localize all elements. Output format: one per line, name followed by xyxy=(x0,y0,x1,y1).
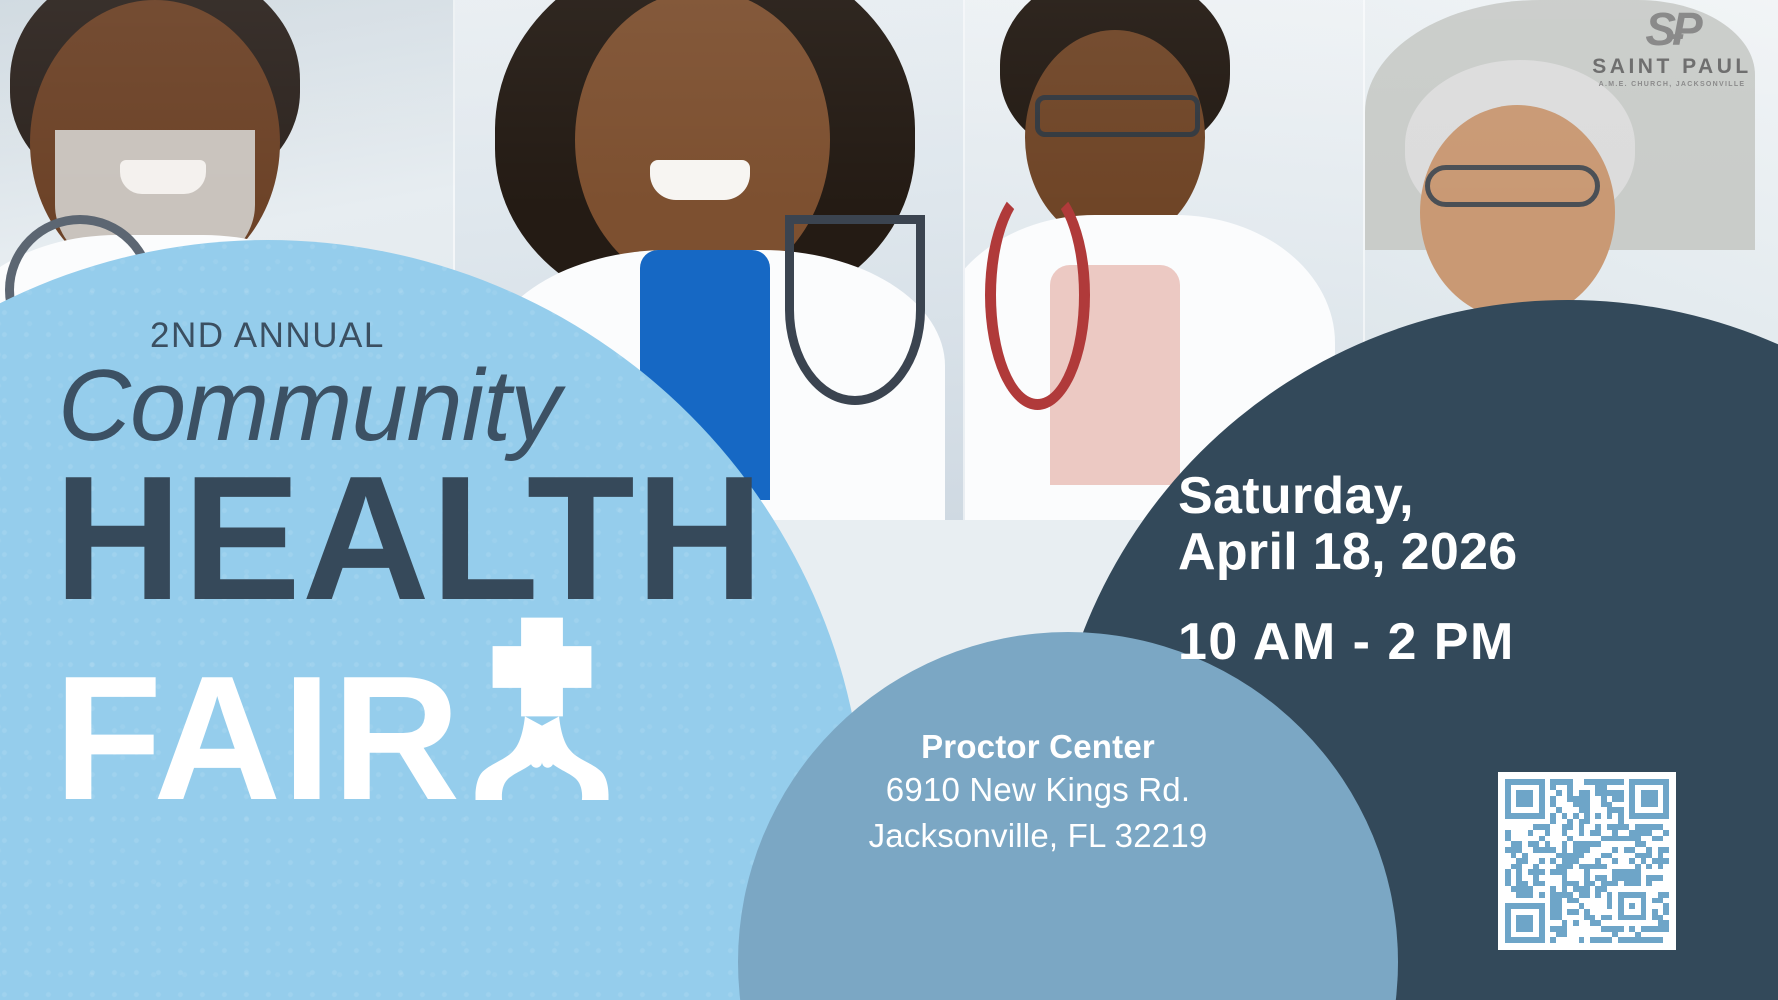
venue-address-line-2: Jacksonville, FL 32219 xyxy=(838,813,1238,859)
kicker-text: 2ND ANNUAL xyxy=(150,318,878,353)
venue-block: Proctor Center 6910 New Kings Rd. Jackso… xyxy=(838,726,1238,858)
logo-name: SAINT PAUL xyxy=(1588,54,1756,79)
photo-shape-smile xyxy=(120,160,206,194)
photo-shape-eyeglasses xyxy=(1035,95,1200,137)
photo-shape-smile xyxy=(650,160,750,200)
logo-monogram-sp: S̵P xyxy=(1588,6,1756,52)
event-time: 10 AM - 2 PM xyxy=(1178,612,1738,672)
word-fair: FAIR xyxy=(54,666,461,811)
photo-shape-eyeglasses xyxy=(1425,165,1600,207)
word-health: HEALTH xyxy=(54,466,878,611)
event-date-line-2: April 18, 2026 xyxy=(1178,524,1738,580)
hands-holding-medical-cross-icon xyxy=(447,605,637,805)
photo-shape-face xyxy=(1420,105,1615,320)
event-date-line-1: Saturday, xyxy=(1178,468,1738,524)
headline-block: 2ND ANNUAL Community HEALTH FAIR xyxy=(58,318,878,811)
event-date-block: Saturday, April 18, 2026 10 AM - 2 PM xyxy=(1178,468,1738,672)
health-fair-flyer: 2ND ANNUAL Community HEALTH FAIR Saturda… xyxy=(0,0,1778,1000)
logo-subtitle: A.M.E. CHURCH, JACKSONVILLE xyxy=(1588,81,1756,88)
venue-name: Proctor Center xyxy=(838,726,1238,767)
photo-shape-red-stethoscope xyxy=(985,180,1090,410)
qr-code-matrix xyxy=(1505,779,1669,943)
saint-paul-logo: S̵P SAINT PAUL A.M.E. CHURCH, JACKSONVIL… xyxy=(1588,6,1756,88)
qr-code[interactable] xyxy=(1498,772,1676,950)
venue-address-line-1: 6910 New Kings Rd. xyxy=(838,767,1238,813)
